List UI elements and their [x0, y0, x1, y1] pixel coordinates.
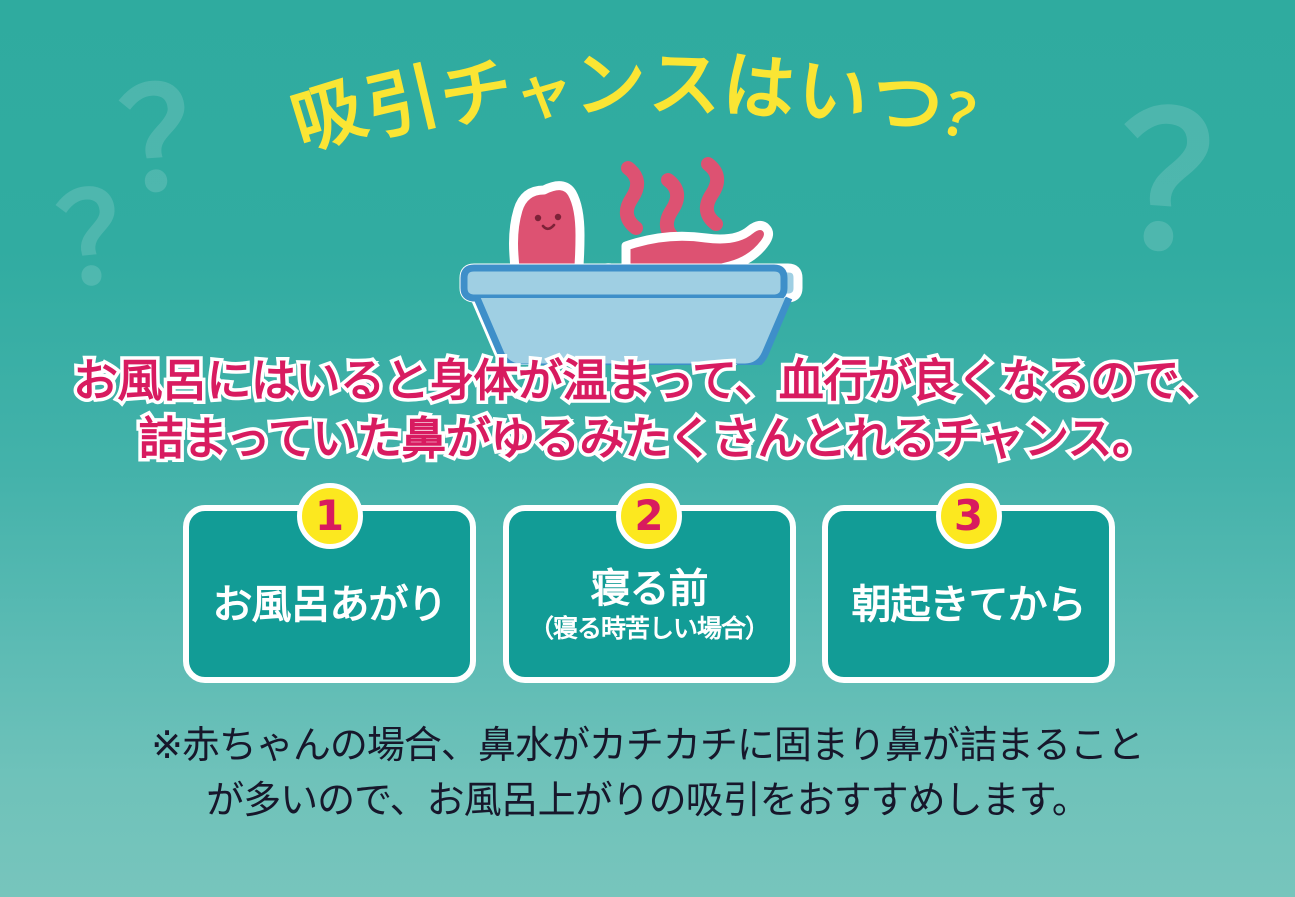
- bathtub-icon: [464, 268, 798, 365]
- eye-right: [555, 214, 561, 220]
- question-mark-icon: ？: [52, 169, 189, 306]
- timing-card-2[interactable]: 2 寝る前 （寝る時苦しい場合）: [503, 505, 796, 683]
- poster-root: ？ ？ ？ 吸引チャンスはいつ？: [0, 0, 1295, 897]
- statement-line-2: 詰まっていた鼻がゆるみたくさんとれるチャンス。: [0, 410, 1295, 468]
- title-char: い: [791, 52, 874, 135]
- title-char: ャ: [512, 61, 575, 124]
- title-question-mark-icon: ？: [935, 84, 1007, 156]
- title-char: チ: [435, 52, 518, 135]
- title-char: は: [719, 48, 798, 127]
- card-sublabel-2: （寝る時苦しい場合）: [529, 615, 769, 644]
- title-char: ン: [573, 47, 647, 121]
- footnote-line-1: ※赤ちゃんの場合、鼻水がカチカチに固まり鼻が詰まること: [0, 718, 1295, 773]
- card-label-1: お風呂あがり: [213, 583, 447, 627]
- timing-card-list: 1 お風呂あがり 2 寝る前 （寝る時苦しい場合） 3 朝起きてから: [183, 505, 1115, 690]
- timing-card-3[interactable]: 3 朝起きてから: [822, 505, 1115, 683]
- statement-text: お風呂にはいると身体が温まって、血行が良くなるので、 詰まっていた鼻がゆるみたく…: [0, 352, 1295, 467]
- footnote-line-2: が多いので、お風呂上がりの吸引をおすすめします。: [0, 773, 1295, 828]
- footnote-text: ※赤ちゃんの場合、鼻水がカチカチに固まり鼻が詰まること が多いので、お風呂上がり…: [0, 718, 1295, 828]
- title-char: ス: [647, 47, 721, 121]
- bathtub-illustration: [440, 150, 860, 365]
- timing-card-1[interactable]: 1 お風呂あがり: [183, 505, 476, 683]
- title-char: 引: [360, 60, 447, 147]
- card-label-2: 寝る前: [591, 567, 708, 611]
- card-number-badge-1: 1: [297, 483, 363, 549]
- card-number-badge-3: 3: [936, 483, 1002, 549]
- card-label-3: 朝起きてから: [852, 583, 1086, 627]
- card-number-badge-2: 2: [616, 483, 682, 549]
- statement-line-1: お風呂にはいると身体が温まって、血行が良くなるので、: [0, 352, 1295, 410]
- steam-icon: [627, 164, 717, 240]
- eye-left: [535, 215, 541, 221]
